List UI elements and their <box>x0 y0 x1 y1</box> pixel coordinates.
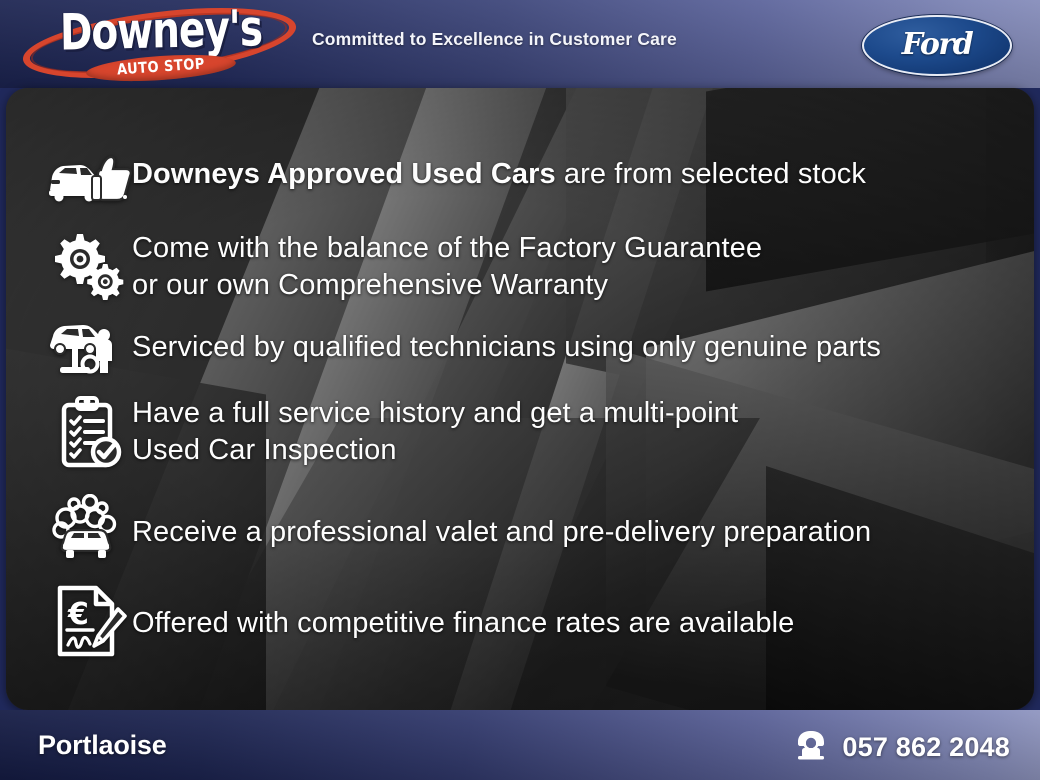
list-item-text-emphasis: Downeys Approved Used Cars <box>132 158 556 190</box>
list-item-text: Have a full service history and get a mu… <box>132 395 738 469</box>
gears-icon <box>46 230 132 302</box>
list-item: Serviced by qualified technicians using … <box>46 319 881 379</box>
euro-document-pen-icon: € <box>46 583 132 659</box>
phone-number[interactable]: 057 862 2048 <box>842 732 1010 763</box>
telephone-icon <box>794 730 828 765</box>
list-item-text: Downeys Approved Used Cars are from sele… <box>132 156 866 193</box>
page-footer: Portlaoise 057 862 2048 <box>0 710 1040 780</box>
phone-contact[interactable]: 057 862 2048 <box>794 730 1010 765</box>
list-item-text: Come with the balance of the Factory Gua… <box>132 230 762 304</box>
list-item: Receive a professional valet and pre-del… <box>46 494 871 566</box>
clipboard-checklist-icon <box>46 395 132 471</box>
branch-name: Portlaoise <box>38 730 167 761</box>
advert-page: Downey's AUTO STOP Committed to Excellen… <box>0 0 1040 780</box>
list-item: Downeys Approved Used Cars are from sele… <box>46 150 866 206</box>
benefits-list: Downeys Approved Used Cars are from sele… <box>6 88 1034 710</box>
list-item-text: Serviced by qualified technicians using … <box>132 329 881 366</box>
list-item: € Offered with competitive finance rates… <box>46 583 794 659</box>
downeys-logo: Downey's AUTO STOP <box>22 4 297 86</box>
list-item-text-rest: are from selected stock <box>556 158 866 190</box>
main-panel: Downeys Approved Used Cars are from sele… <box>6 88 1034 710</box>
list-item-text: Receive a professional valet and pre-del… <box>132 514 871 551</box>
svg-text:€: € <box>67 597 89 632</box>
ford-logo: Ford <box>862 15 1012 76</box>
car-wash-bubbles-icon <box>46 494 132 566</box>
car-thumbs-up-icon <box>46 150 132 206</box>
list-item: Have a full service history and get a mu… <box>46 395 738 471</box>
ford-wordmark: Ford <box>864 16 1010 73</box>
header-tagline: Committed to Excellence in Customer Care <box>312 29 677 50</box>
list-item: Come with the balance of the Factory Gua… <box>46 230 762 304</box>
list-item-text: Offered with competitive finance rates a… <box>132 605 794 642</box>
page-header: Downey's AUTO STOP Committed to Excellen… <box>0 0 1040 88</box>
car-lift-technician-icon <box>46 319 132 379</box>
